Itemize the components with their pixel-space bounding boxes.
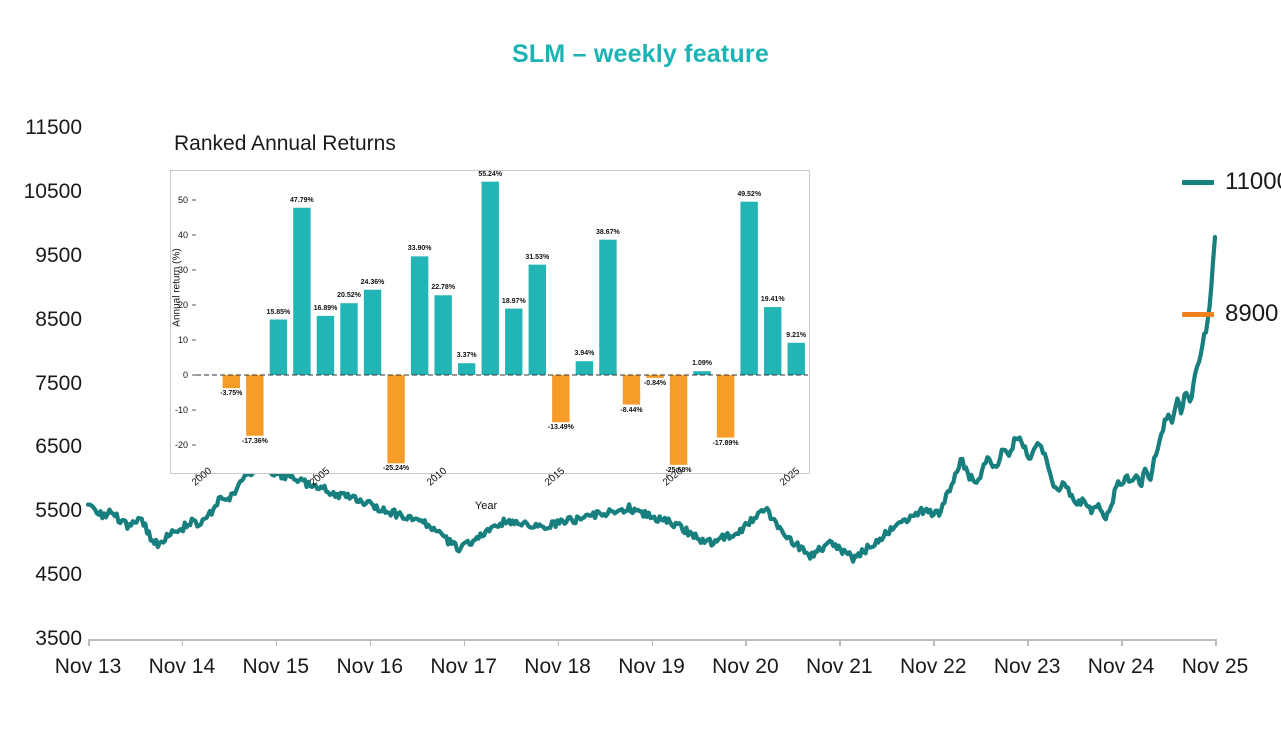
inset-bar-value-label: 18.97% [502, 298, 526, 305]
inset-bar-chart: Ranked Annual Returns Annual return (%) … [162, 132, 810, 517]
inset-bar-value-label: 24.36% [361, 279, 385, 286]
inset-bar[interactable] [387, 375, 404, 463]
inset-bar[interactable] [552, 375, 569, 422]
inset-bar-value-label: -3.75% [220, 390, 242, 397]
inset-bar-value-label: 1.09% [692, 360, 712, 367]
inset-bar-value-label: 33.90% [408, 245, 432, 252]
inset-bar-value-label: 9.21% [786, 332, 806, 339]
inset-bar-value-label: -8.44% [620, 407, 642, 414]
inset-bar[interactable] [505, 309, 522, 375]
inset-bar[interactable] [670, 375, 687, 465]
inset-bar-value-label: 15.85% [267, 309, 291, 316]
inset-bar-value-label: 20.52% [337, 292, 361, 299]
legend-item[interactable]: 11000 [1182, 168, 1281, 196]
legend-color-swatch [1182, 312, 1214, 317]
inset-bar-value-label: -17.89% [713, 440, 739, 447]
legend-color-swatch [1182, 180, 1214, 185]
legend-label: 8900 [1225, 300, 1278, 328]
inset-bar[interactable] [693, 371, 710, 375]
inset-bar[interactable] [764, 307, 781, 375]
inset-bar-value-label: 55.24% [478, 171, 502, 178]
inset-bar-value-label: 22.78% [431, 284, 455, 291]
inset-bar-value-label: 19.41% [761, 296, 785, 303]
inset-bar[interactable] [788, 343, 805, 375]
inset-bar[interactable] [364, 290, 381, 375]
inset-bar-value-label: 3.94% [574, 350, 594, 357]
inset-bar[interactable] [246, 375, 263, 436]
legend-label: 11000 [1225, 168, 1281, 196]
inset-bar[interactable] [317, 316, 334, 375]
inset-bar-value-label: -13.49% [548, 424, 574, 431]
page-title: SLM – weekly feature [0, 40, 1281, 69]
inset-bar-value-label: -0.84% [644, 380, 666, 387]
inset-bar[interactable] [576, 361, 593, 375]
inset-bar[interactable] [411, 256, 428, 375]
inset-bar-value-label: 3.37% [457, 352, 477, 359]
inset-bar[interactable] [340, 303, 357, 375]
inset-bar[interactable] [740, 202, 757, 375]
inset-bar[interactable] [717, 375, 734, 438]
inset-bar-value-label: 47.79% [290, 197, 314, 204]
inset-bar[interactable] [529, 265, 546, 375]
inset-bar[interactable] [458, 363, 475, 375]
inset-bar-group [223, 182, 805, 465]
inset-bar[interactable] [623, 375, 640, 405]
inset-bar-value-label: -25.68% [665, 467, 691, 474]
inset-bar-value-label: 16.89% [314, 305, 338, 312]
inset-bar-value-label: -17.36% [242, 438, 268, 445]
inset-bar[interactable] [270, 320, 287, 375]
inset-bar-value-label: -25.24% [383, 465, 409, 472]
inset-bar[interactable] [293, 208, 310, 375]
legend-item[interactable]: 8900 [1182, 300, 1278, 328]
inset-bar[interactable] [223, 375, 240, 388]
inset-bar-value-label: 31.53% [525, 254, 549, 261]
inset-bar[interactable] [482, 182, 499, 375]
inset-bar-value-label: 49.52% [737, 191, 761, 198]
inset-bars-svg [162, 132, 810, 517]
inset-bar[interactable] [599, 240, 616, 375]
inset-bar-value-label: 38.67% [596, 229, 620, 236]
inset-bar[interactable] [434, 295, 451, 375]
